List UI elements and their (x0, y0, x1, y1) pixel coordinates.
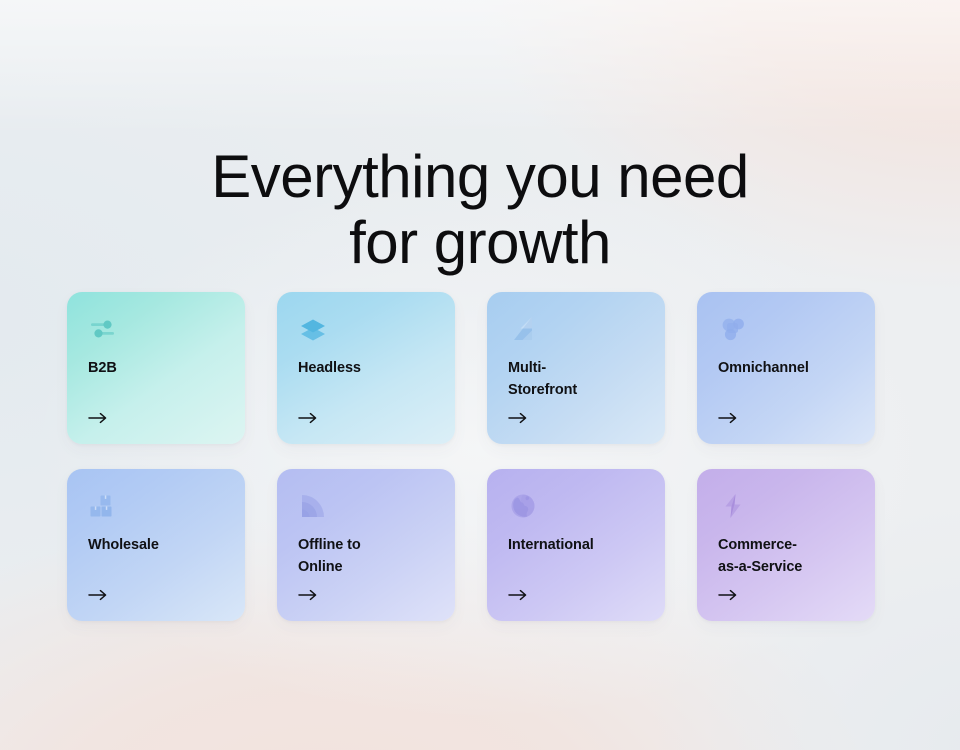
layers-icon (298, 314, 328, 344)
feature-card-body: Multi- Storefront (487, 292, 665, 444)
arrow-right-icon[interactable] (298, 587, 318, 603)
arrow-right-icon[interactable] (718, 410, 738, 426)
signal-arc-icon (298, 491, 328, 521)
feature-card-body: International (487, 469, 665, 621)
globe-icon (508, 491, 538, 521)
arrow-right-icon[interactable] (718, 587, 738, 603)
arrow-right-icon[interactable] (88, 410, 108, 426)
features-section: Everything you need for growth B2B Headl… (0, 0, 960, 750)
arrow-right-icon[interactable] (88, 587, 108, 603)
sliders-icon (88, 314, 118, 344)
feature-card-title: Multi- Storefront (508, 357, 645, 401)
page-title: Everything you need for growth (0, 144, 960, 276)
feature-card-international[interactable]: International (487, 469, 665, 621)
arrow-right-icon[interactable] (508, 587, 528, 603)
feature-card-title: B2B (88, 357, 225, 379)
feature-card-omnichannel[interactable]: Omnichannel (697, 292, 875, 444)
feature-card-offline-to-online[interactable]: Offline to Online (277, 469, 455, 621)
feature-card-title: Headless (298, 357, 435, 379)
arrow-right-icon[interactable] (508, 410, 528, 426)
feature-card-b2b[interactable]: B2B (67, 292, 245, 444)
feature-card-commerce-as-a-service[interactable]: Commerce- as-a-Service (697, 469, 875, 621)
feature-card-grid: B2B Headless Multi- Storefront Omnichann… (67, 292, 877, 621)
feature-card-body: Omnichannel (697, 292, 875, 444)
arrow-right-icon[interactable] (298, 410, 318, 426)
puzzle-icon (718, 314, 748, 344)
feature-card-title: Offline to Online (298, 534, 435, 578)
feature-card-multi-storefront[interactable]: Multi- Storefront (487, 292, 665, 444)
storefront-icon (508, 314, 538, 344)
feature-card-wholesale[interactable]: Wholesale (67, 469, 245, 621)
feature-card-title: International (508, 534, 645, 556)
feature-card-body: Commerce- as-a-Service (697, 469, 875, 621)
feature-card-body: B2B (67, 292, 245, 444)
feature-card-body: Headless (277, 292, 455, 444)
feature-card-headless[interactable]: Headless (277, 292, 455, 444)
feature-card-body: Wholesale (67, 469, 245, 621)
feature-card-title: Omnichannel (718, 357, 855, 379)
boxes-icon (88, 491, 118, 521)
feature-card-title: Commerce- as-a-Service (718, 534, 855, 578)
feature-card-title: Wholesale (88, 534, 225, 556)
feature-card-body: Offline to Online (277, 469, 455, 621)
bolt-icon (718, 491, 748, 521)
